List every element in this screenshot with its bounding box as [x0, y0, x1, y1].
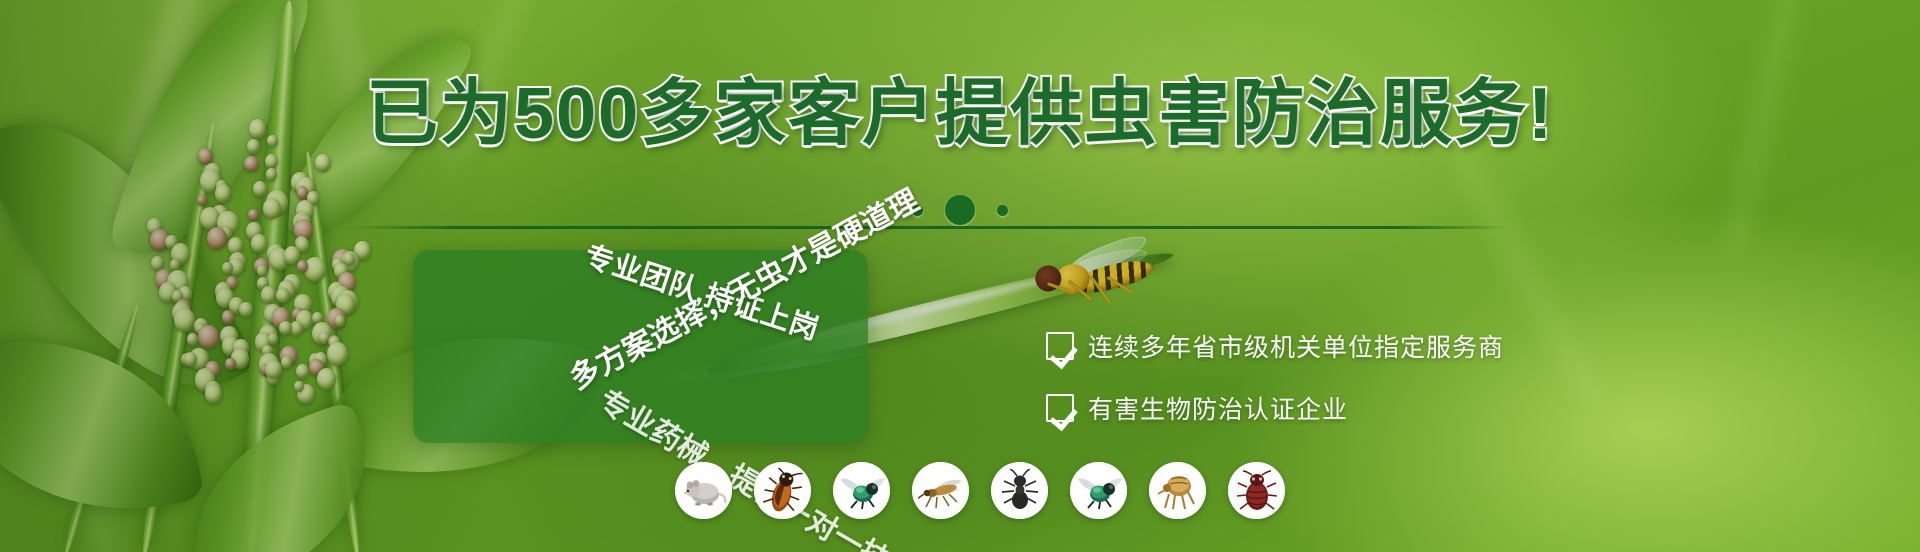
plant-bud [335, 315, 345, 327]
credential-label: 有害生物防治认证企业 [1088, 390, 1348, 426]
plant-bud [276, 288, 289, 303]
plant-bud [315, 154, 331, 172]
rodent-icon[interactable]: 鼠 [675, 462, 732, 519]
plant-bud [265, 360, 282, 380]
blowfly-icon[interactable]: 绿头蝇 [1070, 462, 1127, 519]
plant-bud [198, 325, 219, 349]
plant-bud [170, 259, 181, 271]
slogan-panel: 专业团队,持证上岗 多方案选择，无虫才是硬道理 专业药械，提供一对一技术指导 [413, 250, 868, 443]
promo-banner: 已为500多家客户提供虫害防治服务! 专业团队,持证上岗 多方案选择，无虫才是硬… [0, 0, 1920, 552]
pest-icon-row: 鼠 蟑螂 [675, 462, 1285, 519]
plant-bud [327, 342, 348, 366]
plant-bud [174, 308, 195, 332]
mosquito-icon[interactable]: 蚊 [912, 462, 969, 519]
plant-bud [225, 358, 236, 370]
plant-bud [317, 368, 336, 390]
plant-bud [279, 321, 292, 336]
plant-bud [304, 257, 325, 282]
plant-bud [290, 321, 303, 336]
check-square-icon [1046, 332, 1074, 360]
credential-label: 连续多年省市级机关单位指定服务商 [1088, 328, 1504, 364]
plant-bud [222, 262, 233, 275]
page-title: 已为500多家客户提供虫害防治服务! [0, 78, 1920, 150]
decorative-dot-large [945, 195, 975, 225]
credentials-checklist: 连续多年省市级机关单位指定服务商 有害生物防治认证企业 [1046, 328, 1606, 426]
plant-bud [244, 156, 259, 173]
plant-bud [281, 356, 292, 369]
list-item: 连续多年省市级机关单位指定服务商 [1046, 328, 1606, 364]
flea-icon[interactable]: 跳蚤 [1149, 462, 1206, 519]
divider [345, 226, 1510, 229]
plant-bud [207, 227, 227, 250]
bedbug-icon[interactable]: 臭虫 [1228, 462, 1285, 519]
plant-bud [261, 286, 276, 304]
plant-bud [296, 364, 309, 379]
decorative-dots [0, 195, 1920, 225]
decorative-dot-small [997, 205, 1008, 216]
list-item: 有害生物防治认证企业 [1046, 390, 1606, 426]
ant-icon[interactable]: 蚂蚁 [991, 462, 1048, 519]
plant-bud [239, 302, 253, 318]
check-square-icon [1046, 394, 1074, 422]
plant-bud [251, 234, 268, 253]
plant-bud [266, 168, 277, 180]
cockroach-icon[interactable]: 蟑螂 [754, 462, 811, 519]
fly-icon[interactable]: 蝇 [833, 462, 890, 519]
plant-bud [205, 384, 222, 404]
